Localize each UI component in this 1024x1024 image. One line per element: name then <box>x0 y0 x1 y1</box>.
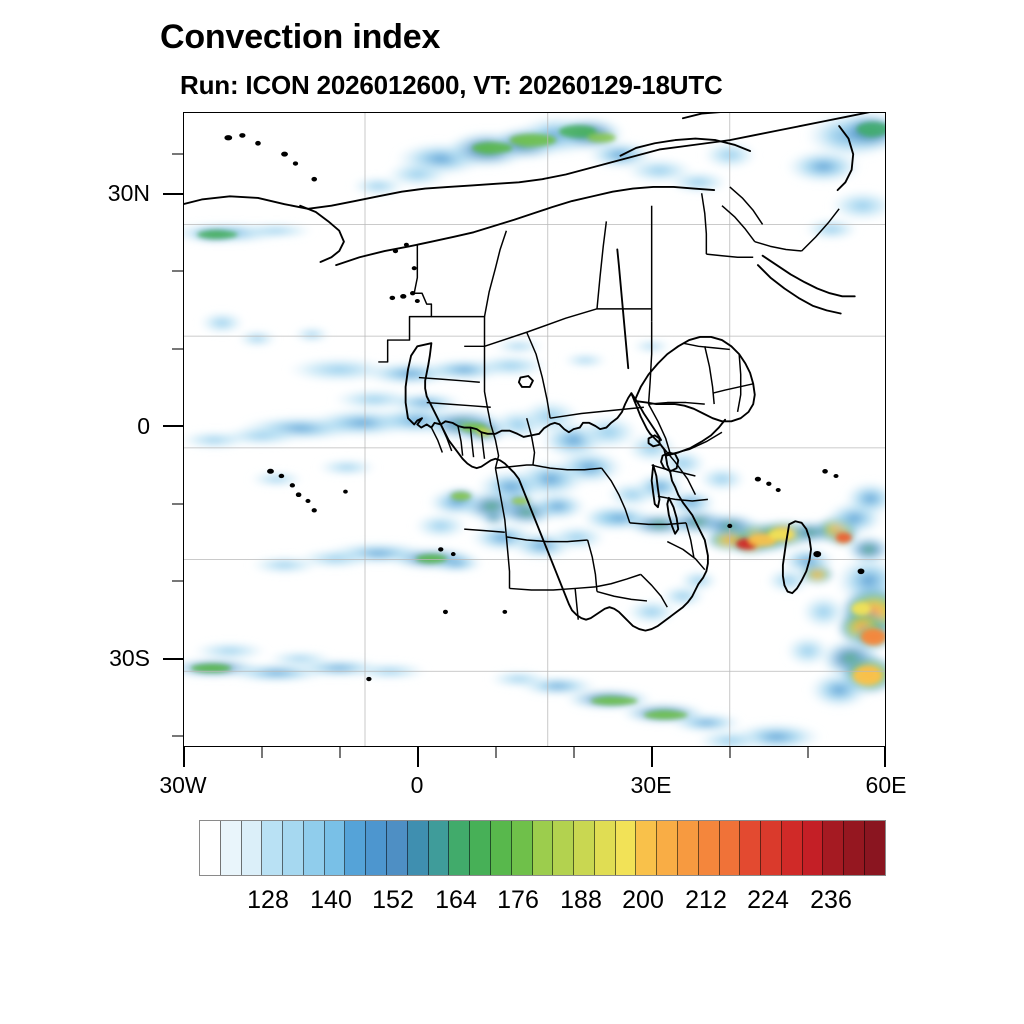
xtick-minor <box>261 747 263 758</box>
colorbar-swatch <box>636 821 657 875</box>
colorbar-swatch <box>283 821 304 875</box>
map-svg <box>183 112 886 747</box>
colorbar-swatch <box>408 821 429 875</box>
xtick-minor <box>729 747 731 758</box>
xtick-major-30w <box>183 747 185 767</box>
yaxis-label-0: 0 <box>40 413 150 440</box>
xtick-minor <box>573 747 575 758</box>
colorbar-swatch <box>304 821 325 875</box>
colorbar-swatch <box>740 821 761 875</box>
colorbar-swatch <box>345 821 366 875</box>
ytick-major-30s <box>163 658 183 660</box>
xtick-major-60e <box>884 747 886 767</box>
colorbar-swatch <box>657 821 678 875</box>
colorbar[interactable] <box>199 820 886 876</box>
colorbar-swatch <box>844 821 865 875</box>
colorbar-swatch <box>200 821 221 875</box>
colorbar-swatch <box>325 821 346 875</box>
colorbar-swatch <box>470 821 491 875</box>
colorbar-swatch <box>533 821 554 875</box>
ytick-minor <box>172 348 183 350</box>
colorbar-swatch <box>262 821 283 875</box>
colorbar-swatch <box>595 821 616 875</box>
xtick-major-0 <box>417 747 419 767</box>
colorbar-swatch <box>720 821 741 875</box>
xtick-minor <box>495 747 497 758</box>
colorbar-swatch <box>865 821 885 875</box>
colorbar-label: 236 <box>771 886 891 915</box>
yaxis-label-30n: 30N <box>40 180 150 207</box>
colorbar-swatch <box>366 821 387 875</box>
ytick-major-0 <box>163 425 183 427</box>
colorbar-swatch <box>387 821 408 875</box>
colorbar-swatch <box>429 821 450 875</box>
colorbar-swatch <box>449 821 470 875</box>
ytick-minor <box>172 735 183 737</box>
xtick-minor <box>807 747 809 758</box>
ytick-minor <box>172 270 183 272</box>
run-valid-time-subtitle: Run: ICON 2026012600, VT: 20260129-18UTC <box>180 70 723 101</box>
xaxis-label-0: 0 <box>357 772 477 799</box>
page-title: Convection index <box>160 18 440 57</box>
ytick-major-30n <box>163 193 183 195</box>
colorbar-swatch <box>699 821 720 875</box>
colorbar-swatch <box>823 821 844 875</box>
xtick-major-30e <box>651 747 653 767</box>
ytick-minor <box>172 580 183 582</box>
xaxis-label-60e: 60E <box>826 772 946 799</box>
colorbar-swatch <box>491 821 512 875</box>
colorbar-swatch <box>761 821 782 875</box>
xtick-minor <box>339 747 341 758</box>
colorbar-swatch <box>553 821 574 875</box>
xaxis-label-30e: 30E <box>591 772 711 799</box>
colorbar-swatch <box>782 821 803 875</box>
colorbar-swatch <box>221 821 242 875</box>
figure-canvas: Convection index Run: ICON 2026012600, V… <box>0 0 1024 1024</box>
map-plot-area[interactable] <box>183 112 886 747</box>
colorbar-swatch <box>512 821 533 875</box>
ytick-minor <box>172 153 183 155</box>
ytick-minor <box>172 503 183 505</box>
yaxis-label-30s: 30S <box>40 645 150 672</box>
colorbar-swatch <box>574 821 595 875</box>
xaxis-label-30w: 30W <box>123 772 243 799</box>
colorbar-swatch <box>616 821 637 875</box>
colorbar-swatch <box>242 821 263 875</box>
colorbar-swatch <box>678 821 699 875</box>
colorbar-swatch <box>803 821 824 875</box>
